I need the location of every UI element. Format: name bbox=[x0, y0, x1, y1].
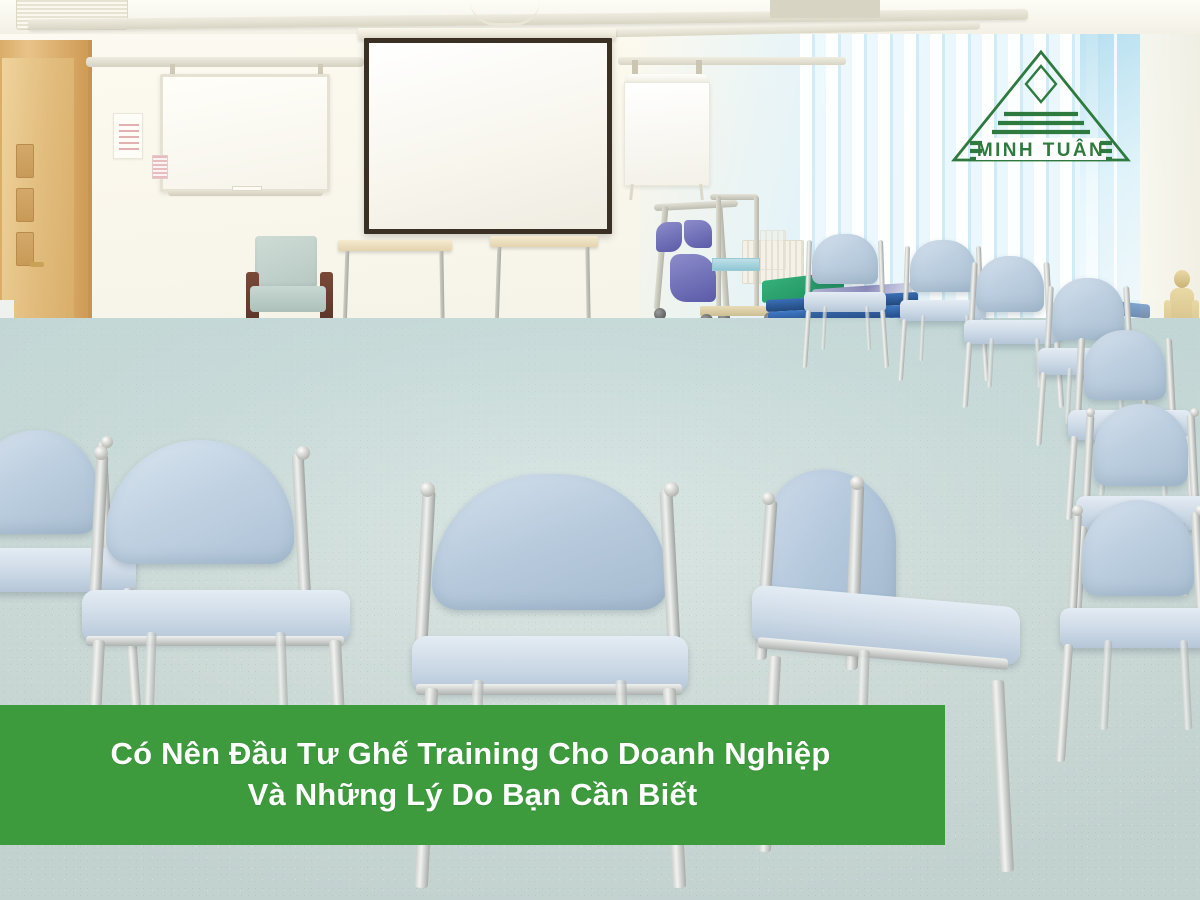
wall-notice bbox=[152, 155, 168, 179]
whiteboard-marker bbox=[232, 186, 262, 191]
folding-table-right bbox=[490, 236, 598, 247]
screenshot-root: MINH TUÂN Có Nên Đầu Tư Ghế Training Cho… bbox=[0, 0, 1200, 900]
door-handle-icon bbox=[30, 262, 44, 267]
projection-screen bbox=[364, 38, 612, 234]
armchair-backrest bbox=[255, 236, 317, 288]
radiator-far-right bbox=[760, 230, 786, 270]
banner-line-2: Và Những Lý Do Bạn Cần Biết bbox=[248, 775, 698, 816]
trolley-post-left bbox=[716, 196, 721, 308]
ceiling-fixture bbox=[770, 0, 880, 18]
title-banner: Có Nên Đầu Tư Ghế Training Cho Doanh Ngh… bbox=[0, 705, 945, 845]
trolley-shelf bbox=[712, 258, 760, 271]
folding-table-left bbox=[338, 240, 452, 251]
minh-tuan-logo: MINH TUÂN bbox=[946, 42, 1136, 167]
banner-line-1: Có Nên Đầu Tư Ghế Training Cho Doanh Ngh… bbox=[111, 734, 835, 775]
trolley-post-right bbox=[754, 196, 759, 308]
flipchart-clip-left bbox=[632, 60, 638, 74]
flipchart-clip-right bbox=[696, 60, 702, 74]
flipchart bbox=[624, 82, 710, 186]
flipchart-rail bbox=[618, 57, 846, 65]
wall-poster bbox=[113, 113, 143, 159]
armchair-seat bbox=[250, 286, 326, 312]
whiteboard bbox=[160, 74, 330, 192]
logo-wordmark: MINH TUÂN bbox=[977, 139, 1105, 161]
